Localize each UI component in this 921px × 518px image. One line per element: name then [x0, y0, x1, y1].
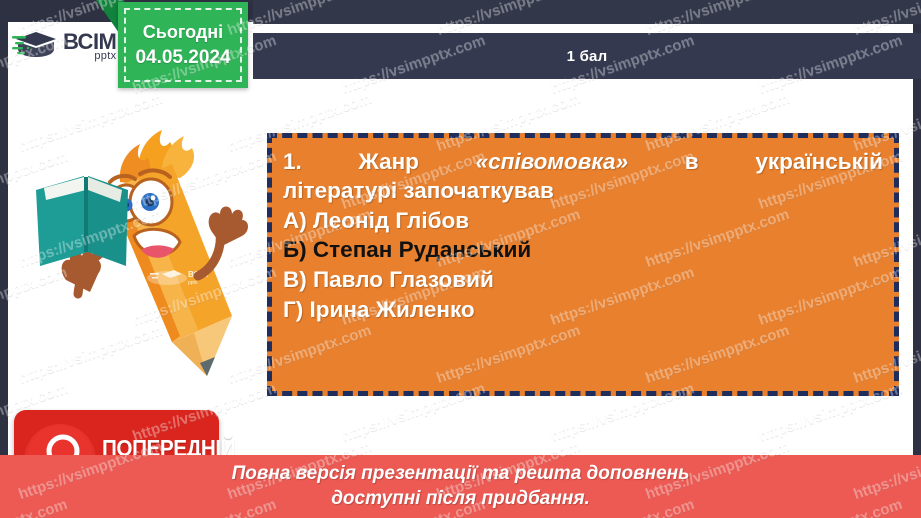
mascot-book: [36, 176, 128, 266]
footer-line-2: доступні після придбання.: [331, 487, 590, 512]
footer-line-1: Повна версія презентації та решта доповн…: [232, 462, 690, 487]
question-word-zhanr: Жанр: [358, 149, 418, 174]
score-label: 1 бал: [567, 48, 608, 65]
question-word-v: в: [685, 149, 699, 174]
date-badge-label: Сьогодні: [143, 22, 223, 43]
option-a[interactable]: А) Леонід Глібов: [283, 206, 883, 236]
mascot-right-arm: [198, 207, 248, 277]
question-stem-line-1: 1. Жанр «співомовка» в українській: [283, 147, 883, 176]
question-term: «співомовка»: [476, 149, 628, 174]
footer-banner: Повна версія презентації та решта доповн…: [0, 455, 921, 518]
graduation-cap-icon: [12, 28, 58, 64]
question-box: 1. Жанр «співомовка» в українській літер…: [267, 133, 899, 396]
question-word-ukr: українській: [755, 149, 883, 174]
score-bar: 1 бал: [253, 33, 921, 79]
option-g[interactable]: Г) Ірина Жиленко: [283, 295, 883, 325]
date-badge-value: 04.05.2024: [135, 47, 230, 69]
svg-text:pptx: pptx: [188, 280, 198, 286]
option-b[interactable]: Б) Степан Руданський: [283, 235, 883, 265]
pencil-mascot-illustration: ВСІМ pptx: [22, 120, 252, 410]
header-top-strip: [253, 0, 921, 24]
date-badge: Сьогодні 04.05.2024: [118, 2, 248, 88]
question-number: 1.: [283, 149, 302, 174]
slide-canvas: 1 бал ВСІМ pptx Сьогодні 04.05.2024: [0, 0, 921, 518]
option-v[interactable]: В) Павло Глазовий: [283, 265, 883, 295]
question-stem-line-2: літературі започаткував: [283, 176, 883, 205]
